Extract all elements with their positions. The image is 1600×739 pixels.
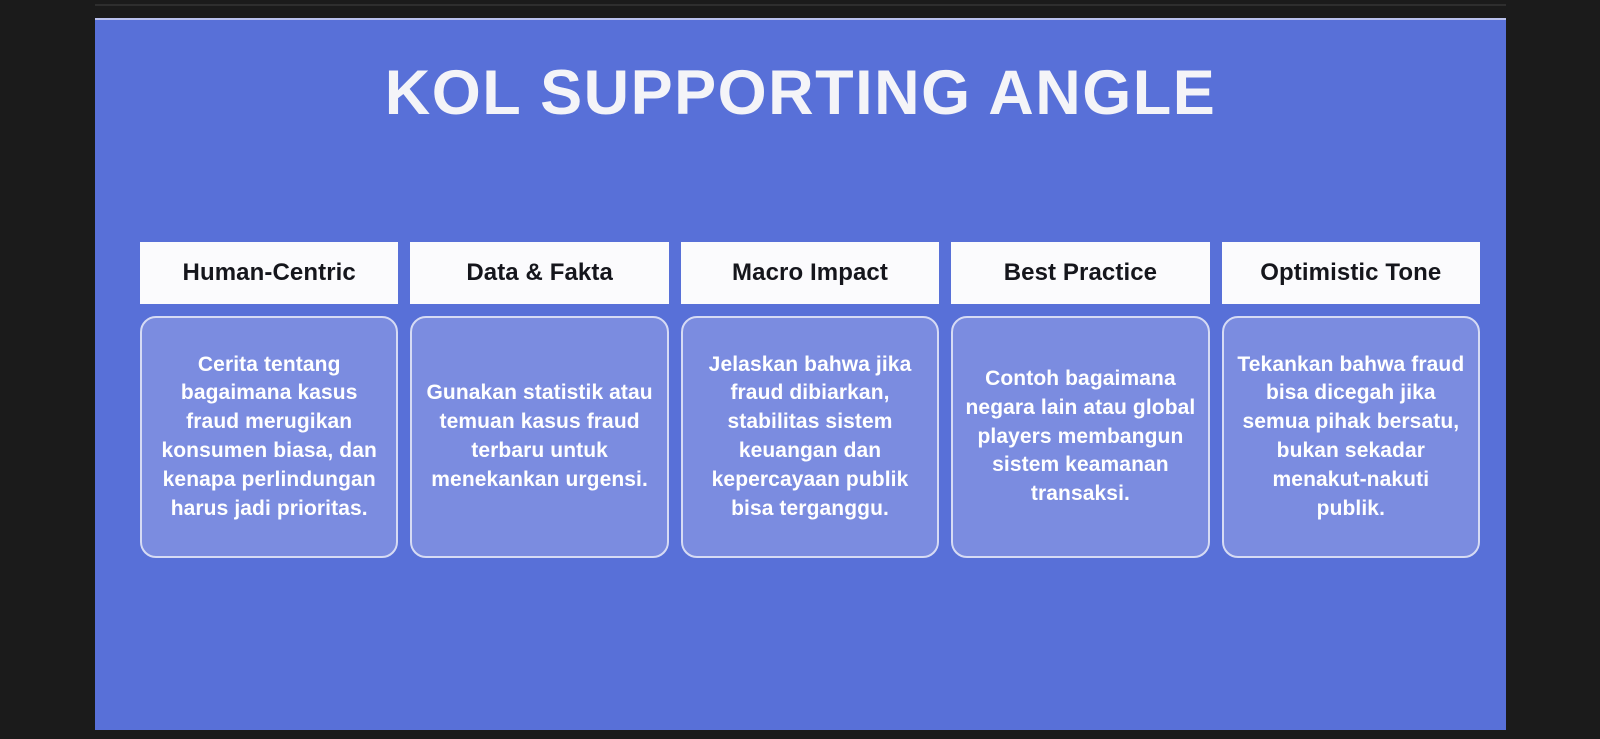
column-header-label: Optimistic Tone [1260, 259, 1441, 287]
angle-columns-grid: Human-Centric Cerita tentang bagaimana k… [140, 242, 1480, 558]
angle-column-best-practice: Best Practice Contoh bagaimana negara la… [951, 242, 1209, 558]
column-header-label: Macro Impact [732, 259, 888, 287]
column-body-card[interactable]: Contoh bagaimana negara lain atau global… [951, 316, 1209, 558]
column-body-text: Contoh bagaimana negara lain atau global… [965, 365, 1195, 509]
column-header-card[interactable]: Human-Centric [140, 242, 398, 304]
angle-column-data-fakta: Data & Fakta Gunakan statistik atau temu… [410, 242, 668, 558]
column-header-card[interactable]: Best Practice [951, 242, 1209, 304]
presentation-slide: KOL SUPPORTING ANGLE Human-Centric Cerit… [95, 18, 1506, 730]
column-body-card[interactable]: Gunakan statistik atau temuan kasus frau… [410, 316, 668, 558]
column-header-card[interactable]: Data & Fakta [410, 242, 668, 304]
column-header-card[interactable]: Optimistic Tone [1222, 242, 1480, 304]
column-body-card[interactable]: Jelaskan bahwa jika fraud dibiarkan, sta… [681, 316, 939, 558]
angle-column-human-centric: Human-Centric Cerita tentang bagaimana k… [140, 242, 398, 558]
column-body-text: Cerita tentang bagaimana kasus fraud mer… [154, 351, 384, 524]
column-body-text: Jelaskan bahwa jika fraud dibiarkan, sta… [695, 351, 925, 524]
column-header-card[interactable]: Macro Impact [681, 242, 939, 304]
column-header-label: Data & Fakta [466, 259, 613, 287]
column-body-text: Gunakan statistik atau temuan kasus frau… [424, 379, 654, 494]
angle-column-macro-impact: Macro Impact Jelaskan bahwa jika fraud d… [681, 242, 939, 558]
slide-title: KOL SUPPORTING ANGLE [95, 60, 1506, 126]
column-header-label: Human-Centric [183, 259, 356, 287]
column-header-label: Best Practice [1004, 259, 1157, 287]
column-body-card[interactable]: Tekankan bahwa fraud bisa dicegah jika s… [1222, 316, 1480, 558]
column-body-card[interactable]: Cerita tentang bagaimana kasus fraud mer… [140, 316, 398, 558]
app-viewport: KOL SUPPORTING ANGLE Human-Centric Cerit… [0, 0, 1600, 739]
angle-column-optimistic-tone: Optimistic Tone Tekankan bahwa fraud bis… [1222, 242, 1480, 558]
column-body-text: Tekankan bahwa fraud bisa dicegah jika s… [1236, 351, 1466, 524]
top-chrome-divider [95, 4, 1506, 6]
